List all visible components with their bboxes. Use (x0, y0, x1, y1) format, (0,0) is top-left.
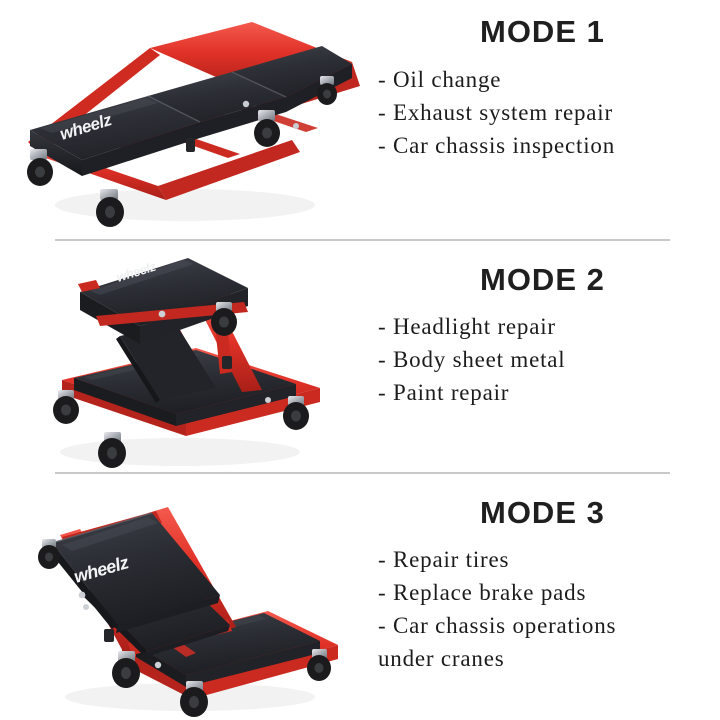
mode-1-bullet-list: - Oil change - Exhaust system repair - C… (378, 63, 615, 162)
mode-3-text: MODE 3 - Repair tires - Replace brake pa… (360, 473, 720, 720)
mode-3-section: wheelz (0, 473, 720, 720)
caster-wheel (98, 432, 126, 468)
mode-2-title: MODE 2 (480, 262, 605, 298)
creeper-flat-illustration: wheelz (0, 0, 360, 240)
list-item: - Oil change (378, 63, 615, 96)
infographic-page: wheelz (0, 0, 720, 720)
list-item: - Car chassis inspection (378, 129, 615, 162)
creeper-seat-illustration: wheelz (0, 240, 360, 473)
mode-1-section: wheelz (0, 0, 720, 240)
list-item: - Paint repair (378, 376, 566, 409)
mode-3-image: wheelz (0, 473, 360, 720)
caster-wheel (317, 76, 337, 105)
mode-2-image: wheelz (0, 240, 360, 473)
list-item: - Car chassis operations (378, 609, 616, 642)
list-item-continuation: under cranes (378, 642, 616, 675)
list-item: - Replace brake pads (378, 576, 616, 609)
creeper-chair-illustration: wheelz (0, 473, 360, 720)
list-item: - Headlight repair (378, 310, 566, 343)
mode-1-image: wheelz (0, 0, 360, 240)
mode-3-title: MODE 3 (480, 495, 605, 531)
mode-2-section: wheelz (0, 240, 720, 473)
mode-2-text: MODE 2 - Headlight repair - Body sheet m… (360, 240, 720, 473)
list-item: - Body sheet metal (378, 343, 566, 376)
mode-1-text: MODE 1 - Oil change - Exhaust system rep… (360, 0, 720, 240)
list-item: - Exhaust system repair (378, 96, 615, 129)
mode-3-bullet-list: - Repair tires - Replace brake pads - Ca… (378, 543, 616, 675)
list-item: - Repair tires (378, 543, 616, 576)
mode-1-title: MODE 1 (480, 14, 605, 50)
mode-2-bullet-list: - Headlight repair - Body sheet metal - … (378, 310, 566, 409)
